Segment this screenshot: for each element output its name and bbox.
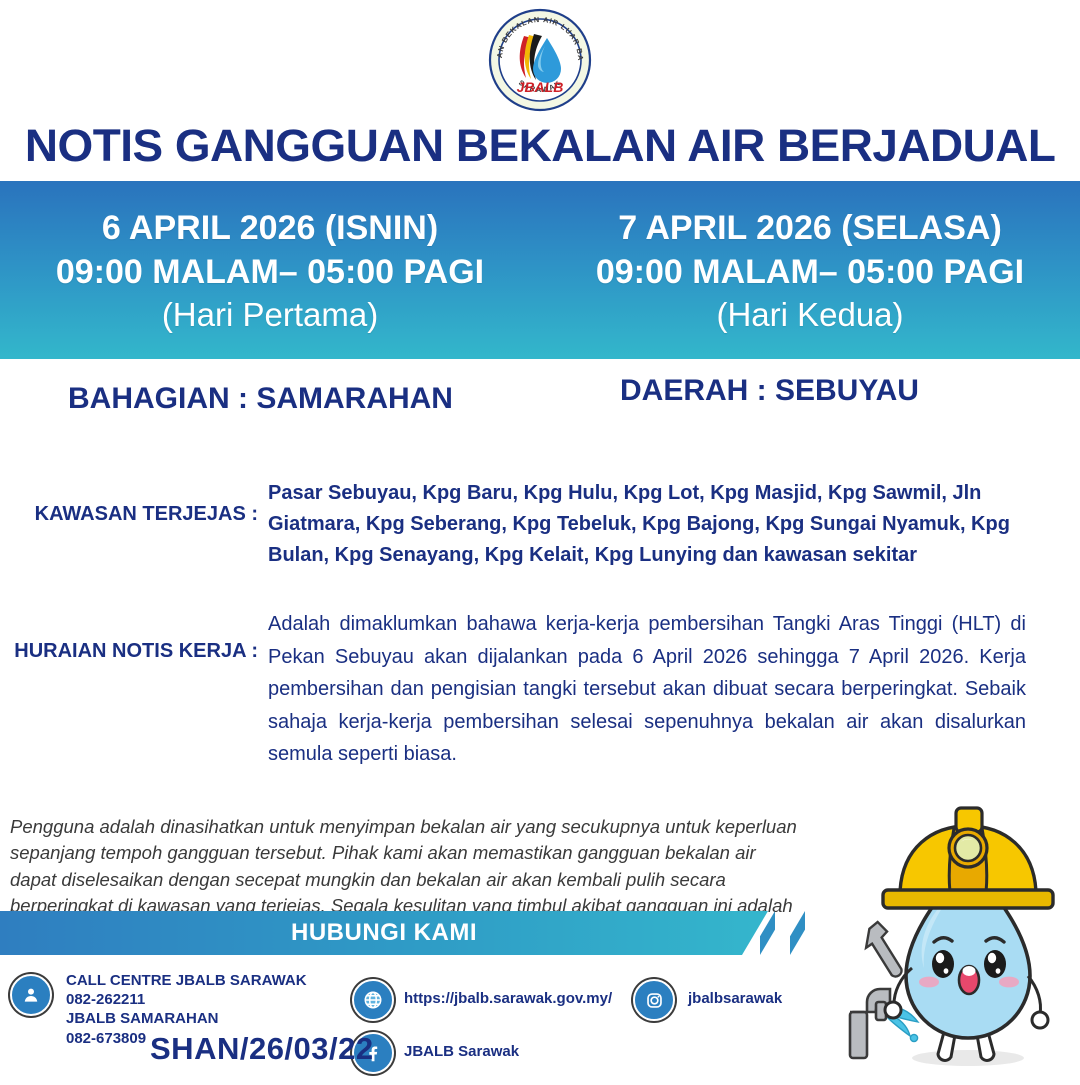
schedule-day-2: 7 APRIL 2026 (SELASA) 09:00 MALAM– 05:00… xyxy=(540,181,1080,359)
schedule-day-2-label: (Hari Kedua) xyxy=(716,294,903,337)
person-icon xyxy=(10,974,52,1016)
division-label: BAHAGIAN : SAMARAHAN xyxy=(68,382,453,416)
notice-poster: JABATAN BEKALAN AIR LUAR BANDAR SARAWAK … xyxy=(0,0,1080,1080)
work-description-label: HURAIAN NOTIS KERJA : xyxy=(0,608,268,771)
region-row: BAHAGIAN : SAMARAHAN DAERAH : SEBUYAU xyxy=(0,380,1080,432)
district-label: DAERAH : SEBUYAU xyxy=(620,374,919,408)
branch-title: JBALB SAMARAHAN xyxy=(66,1009,307,1028)
website-link[interactable]: https://jbalb.sarawak.gov.my/ xyxy=(404,990,612,1007)
call-centre-title: CALL CENTRE JBALB SARAWAK xyxy=(66,971,307,990)
work-description-value: Adalah dimaklumkan bahawa kerja-kerja pe… xyxy=(268,608,1058,771)
jbalb-logo-icon: JABATAN BEKALAN AIR LUAR BANDAR SARAWAK … xyxy=(488,8,592,112)
water-droplet-worker-mascot-icon xyxy=(828,800,1078,1080)
instagram-icon[interactable] xyxy=(633,979,675,1021)
page-title: NOTIS GANGGUAN BEKALAN AIR BERJADUAL xyxy=(25,120,1056,172)
facebook-handle[interactable]: JBALB Sarawak xyxy=(404,1043,519,1060)
affected-areas-label: KAWASAN TERJEJAS : xyxy=(0,478,268,571)
schedule-day-2-date: 7 APRIL 2026 (SELASA) xyxy=(618,207,1002,251)
contact-banner: HUBUNGI KAMI xyxy=(0,911,800,955)
schedule-day-1-time: 09:00 MALAM– 05:00 PAGI xyxy=(56,251,484,295)
contact-banner-body: HUBUNGI KAMI xyxy=(0,911,768,955)
svg-text:JBALB: JBALB xyxy=(517,79,564,95)
affected-areas-value: Pasar Sebuyau, Kpg Baru, Kpg Hulu, Kpg L… xyxy=(268,478,1058,571)
reference-code: SHAN/26/03/22 xyxy=(150,1031,374,1067)
contact-banner-label: HUBUNGI KAMI xyxy=(291,919,477,947)
logo-container: JABATAN BEKALAN AIR LUAR BANDAR SARAWAK … xyxy=(0,6,1080,114)
schedule-day-1-date: 6 APRIL 2026 (ISNIN) xyxy=(102,207,438,251)
call-centre-phone[interactable]: 082-262211 xyxy=(66,990,307,1009)
globe-icon[interactable] xyxy=(352,979,394,1021)
work-description-row: HURAIAN NOTIS KERJA : Adalah dimaklumkan… xyxy=(0,608,1080,771)
instagram-handle[interactable]: jbalbsarawak xyxy=(688,990,782,1007)
schedule-day-1: 6 APRIL 2026 (ISNIN) 09:00 MALAM– 05:00 … xyxy=(0,181,540,359)
schedule-day-2-time: 09:00 MALAM– 05:00 PAGI xyxy=(596,251,1024,295)
schedule-band: 6 APRIL 2026 (ISNIN) 09:00 MALAM– 05:00 … xyxy=(0,181,1080,359)
contact-details: CALL CENTRE JBALB SARAWAK 082-262211 JBA… xyxy=(0,964,840,1080)
banner-stripe-2 xyxy=(790,911,805,955)
schedule-day-1-label: (Hari Pertama) xyxy=(162,294,378,337)
affected-areas-row: KAWASAN TERJEJAS : Pasar Sebuyau, Kpg Ba… xyxy=(0,478,1080,571)
page-title-bar: NOTIS GANGGUAN BEKALAN AIR BERJADUAL xyxy=(0,113,1080,179)
